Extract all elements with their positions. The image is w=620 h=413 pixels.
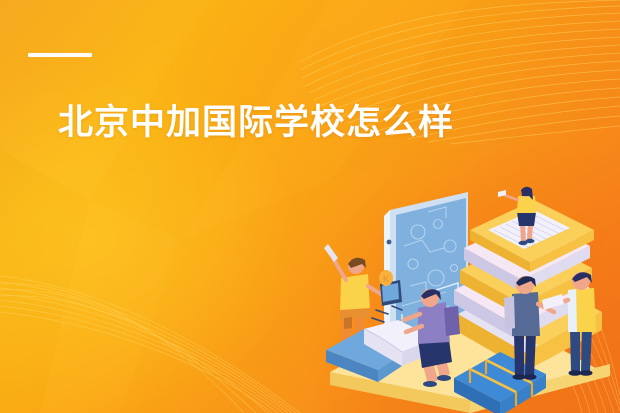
- isometric-education-illustration: K: [318, 186, 620, 413]
- svg-text:K: K: [383, 274, 389, 284]
- promo-banner: 北京中加国际学校怎么样: [0, 0, 620, 413]
- tablet-camera-dot: [387, 240, 392, 245]
- wave-lines-bottom-left: [0, 276, 300, 413]
- title-underline-rule: [28, 53, 92, 57]
- page-title: 北京中加国际学校怎么样: [58, 104, 454, 143]
